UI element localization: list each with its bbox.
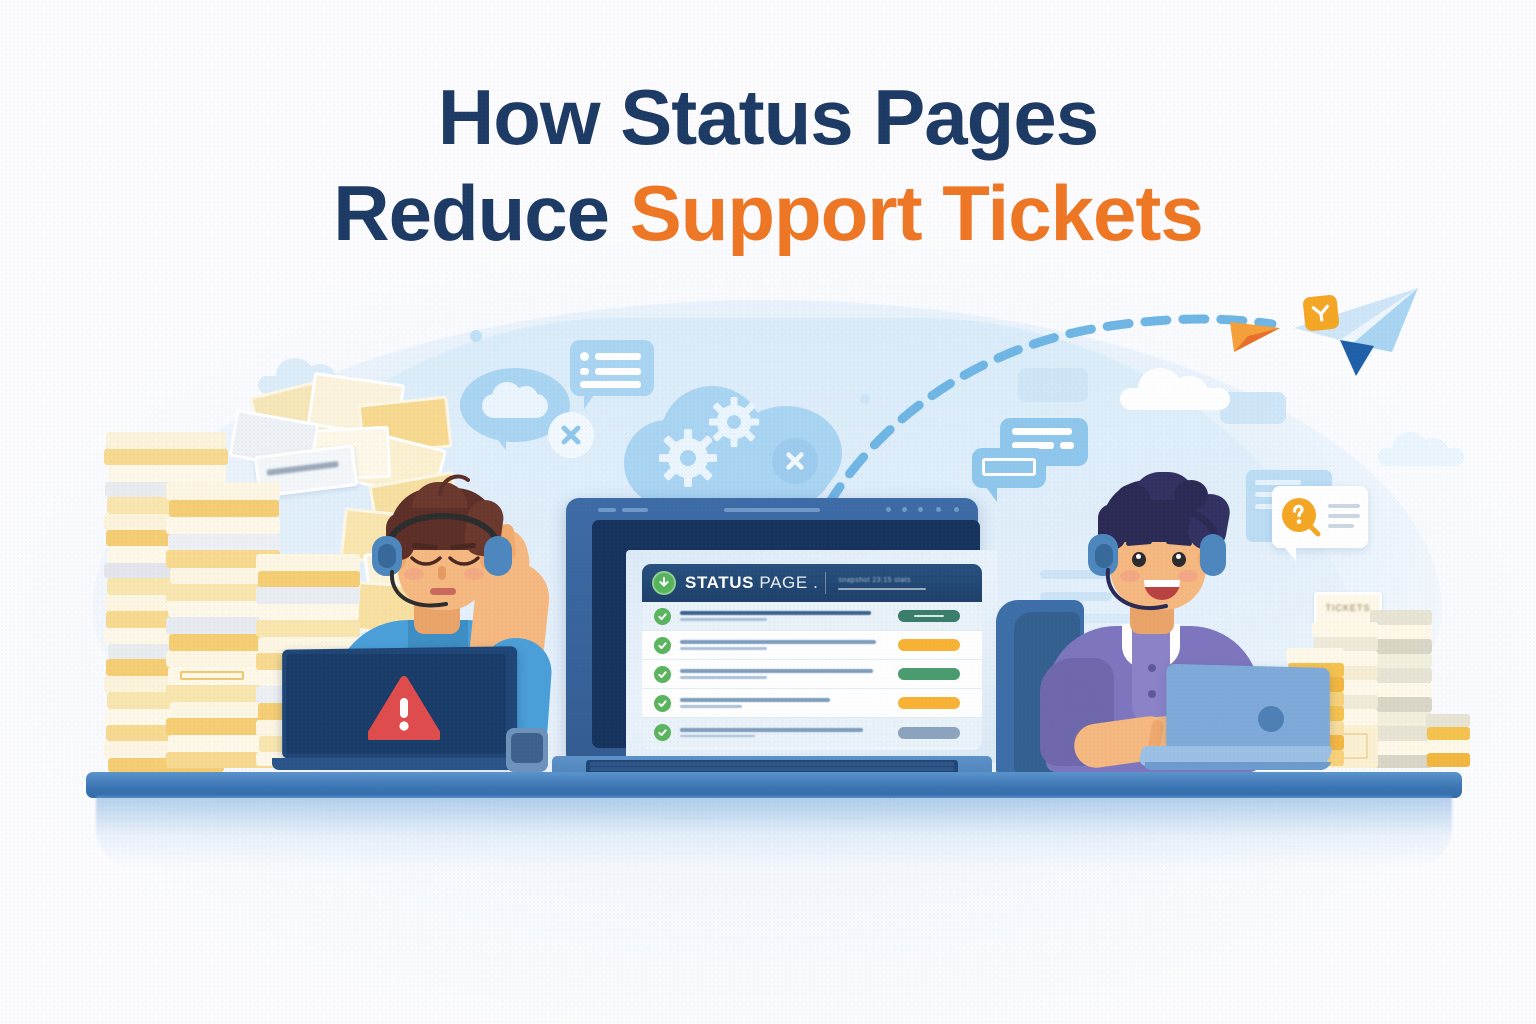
status-badge[interactable] bbox=[898, 668, 960, 680]
agent-laptop-alert bbox=[272, 648, 522, 780]
row-text bbox=[680, 698, 888, 708]
cloud-icon bbox=[1378, 432, 1464, 466]
row-text bbox=[680, 640, 888, 650]
status-page-title-bold: STATUS bbox=[685, 573, 754, 592]
status-page-title: STATUS PAGE . bbox=[685, 573, 818, 593]
check-icon bbox=[654, 666, 671, 683]
title-line-2-highlight: Support Tickets bbox=[630, 169, 1203, 257]
status-badge[interactable] bbox=[898, 610, 960, 622]
status-page-header: STATUS PAGE . snapshot 23:15 stats bbox=[642, 564, 982, 602]
status-badge-cell bbox=[888, 610, 970, 622]
status-page-meta: snapshot 23:15 stats bbox=[838, 577, 972, 590]
table-row[interactable] bbox=[642, 602, 982, 631]
mouse-device bbox=[506, 728, 548, 772]
status-badge-cell bbox=[888, 668, 970, 680]
status-badge[interactable] bbox=[898, 697, 960, 709]
center-laptop: STATUS PAGE . snapshot 23:15 stats bbox=[552, 498, 992, 806]
table-row[interactable] bbox=[642, 660, 982, 689]
row-text bbox=[680, 669, 888, 679]
title-line-1: How Status Pages bbox=[0, 78, 1536, 158]
faq-card[interactable] bbox=[1272, 486, 1368, 548]
title-line-2: Reduce Support Tickets bbox=[0, 174, 1536, 254]
mic-boom bbox=[1102, 568, 1176, 618]
confetti-dot bbox=[470, 330, 482, 342]
laptop-bezel: STATUS PAGE . snapshot 23:15 stats bbox=[592, 520, 980, 748]
check-icon bbox=[654, 724, 671, 741]
desk-surface bbox=[86, 772, 1462, 798]
status-page-meta-text: snapshot 23:15 stats bbox=[838, 577, 972, 584]
table-row[interactable] bbox=[642, 631, 982, 660]
laptop-lid: STATUS PAGE . snapshot 23:15 stats bbox=[566, 498, 978, 760]
laptop-logo bbox=[1258, 706, 1284, 732]
x-close-icon bbox=[772, 438, 818, 484]
status-badge-cell bbox=[888, 727, 970, 739]
small-orange-plane-icon bbox=[1228, 310, 1284, 356]
desk-reflection bbox=[96, 796, 1452, 868]
check-icon bbox=[654, 608, 671, 625]
status-page-meta-rule bbox=[838, 588, 926, 590]
confetti-dot bbox=[906, 360, 913, 367]
confetti-dot bbox=[860, 394, 870, 404]
status-page: STATUS PAGE . snapshot 23:15 stats bbox=[642, 564, 982, 750]
row-text bbox=[680, 611, 888, 621]
mic-boom bbox=[386, 570, 458, 614]
magnifier-question-icon bbox=[1282, 498, 1320, 536]
status-page-title-light: PAGE . bbox=[754, 573, 818, 592]
laptop-screen: STATUS PAGE . snapshot 23:15 stats bbox=[626, 550, 998, 762]
illustration-canvas: STATUS PAGE . snapshot 23:15 stats bbox=[0, 0, 1536, 1024]
title-line-2-dark: Reduce bbox=[333, 169, 629, 257]
status-badge[interactable] bbox=[898, 639, 960, 651]
confetti-dot bbox=[492, 344, 500, 352]
headphone-cup bbox=[1200, 534, 1226, 576]
status-page-rows bbox=[642, 602, 982, 750]
status-badge-cell bbox=[888, 697, 970, 709]
check-icon bbox=[654, 637, 671, 654]
header-divider bbox=[825, 572, 826, 594]
paper-plane-icon bbox=[1282, 282, 1422, 380]
status-badge[interactable] bbox=[898, 727, 960, 739]
check-icon bbox=[654, 695, 671, 712]
headphone-cup bbox=[484, 536, 512, 576]
download-circle-icon bbox=[652, 571, 676, 595]
agent-laptop-right bbox=[1140, 666, 1340, 778]
table-row[interactable] bbox=[642, 718, 982, 747]
page-title: How Status Pages Reduce Support Tickets bbox=[0, 78, 1536, 253]
x-close-icon bbox=[548, 412, 594, 458]
send-badge-icon bbox=[1302, 294, 1339, 331]
row-text bbox=[680, 728, 888, 738]
warning-triangle-icon bbox=[368, 676, 440, 740]
status-badge-cell bbox=[888, 639, 970, 651]
table-row[interactable] bbox=[642, 689, 982, 718]
